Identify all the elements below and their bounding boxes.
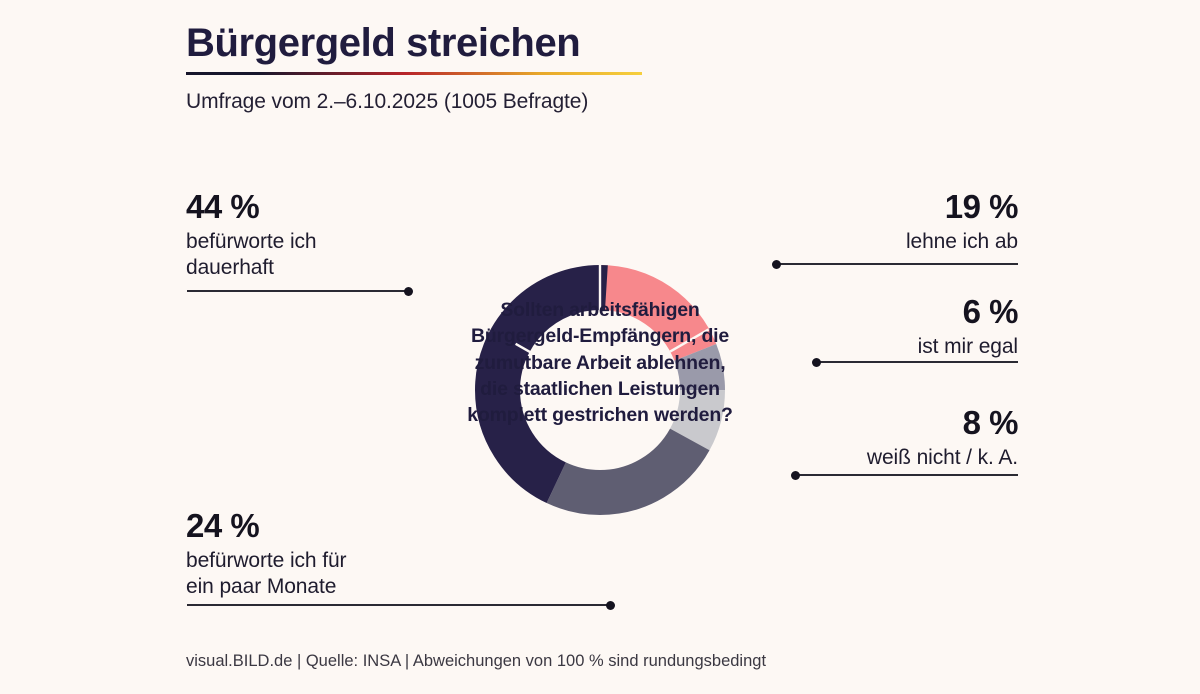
- callout-percent-dauerhaft: 44 %: [186, 190, 317, 223]
- source-footer: visual.BILD.de | Quelle: INSA | Abweichu…: [186, 652, 766, 671]
- callout-percent-ein-paar-monate: 24 %: [186, 509, 346, 542]
- callout-label-dauerhaft-line2: dauerhaft: [186, 255, 317, 281]
- page-title: Bürgergeld streichen: [186, 22, 1086, 64]
- callout-label-ein-paar-monate-line1: befürworte ich für: [186, 548, 346, 574]
- callout-percent-lehne-ich-ab: 19 %: [906, 190, 1018, 223]
- callout-label-lehne-ich-ab: lehne ich ab: [906, 229, 1018, 255]
- chart-header: Bürgergeld streichen Umfrage vom 2.–6.10…: [186, 22, 1086, 114]
- leader-line-weiss-nicht: [795, 474, 1018, 476]
- callout-lehne-ich-ab: 19 % lehne ich ab: [906, 190, 1018, 255]
- center-question-text: Sollten arbeitsfähigen Bürgergeld-Empfän…: [462, 297, 738, 429]
- leader-dot-ein-paar-monate: [606, 601, 615, 610]
- callout-label-ein-paar-monate-line2: ein paar Monate: [186, 574, 346, 600]
- leader-line-dauerhaft: [187, 290, 409, 292]
- callout-label-dauerhaft: befürworte ich dauerhaft: [186, 229, 317, 280]
- callout-label-ein-paar-monate: befürworte ich für ein paar Monate: [186, 548, 346, 599]
- callout-label-weiss-nicht: weiß nicht / k. A.: [867, 445, 1018, 471]
- callout-label-dauerhaft-line1: befürworte ich: [186, 229, 317, 255]
- callout-percent-weiss-nicht: 8 %: [867, 406, 1018, 439]
- title-underline-flag-rule: [186, 72, 642, 75]
- leader-dot-ist-mir-egal: [812, 358, 821, 367]
- leader-line-ein-paar-monate: [187, 604, 611, 606]
- infographic-canvas: Bürgergeld streichen Umfrage vom 2.–6.10…: [0, 0, 1200, 694]
- leader-dot-lehne-ich-ab: [772, 260, 781, 269]
- leader-line-lehne-ich-ab: [776, 263, 1018, 265]
- callout-label-ist-mir-egal: ist mir egal: [918, 334, 1018, 360]
- leader-dot-dauerhaft: [404, 287, 413, 296]
- callout-ist-mir-egal: 6 % ist mir egal: [918, 295, 1018, 360]
- callout-percent-ist-mir-egal: 6 %: [918, 295, 1018, 328]
- leader-dot-weiss-nicht: [791, 471, 800, 480]
- chart-subtitle: Umfrage vom 2.–6.10.2025 (1005 Befragte): [186, 90, 1086, 114]
- callout-dauerhaft: 44 % befürworte ich dauerhaft: [186, 190, 317, 280]
- leader-line-ist-mir-egal: [816, 361, 1018, 363]
- callout-ein-paar-monate: 24 % befürworte ich für ein paar Monate: [186, 509, 346, 599]
- callout-weiss-nicht: 8 % weiß nicht / k. A.: [867, 406, 1018, 471]
